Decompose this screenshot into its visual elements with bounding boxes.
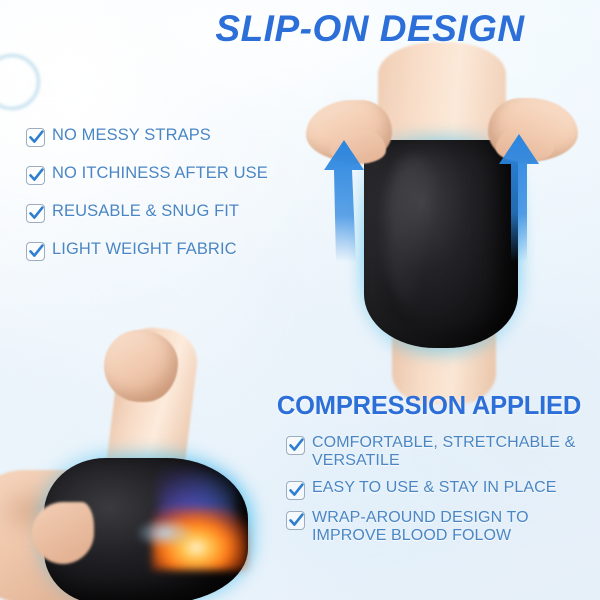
slip-on-arrow-left-icon: [322, 140, 368, 262]
list-item: WRAP-AROUND DESIGN TO IMPROVE BLOOD FOLO…: [286, 509, 596, 545]
list-item-label: REUSABLE & SNUG FIT: [52, 202, 239, 221]
list-item-label: NO ITCHINESS AFTER USE: [52, 164, 268, 183]
list-item-label: NO MESSY STRAPS: [52, 126, 211, 145]
list-item: EASY TO USE & STAY IN PLACE: [286, 479, 596, 500]
checkbox-checked-icon: [286, 436, 305, 455]
checkbox-checked-icon: [26, 204, 45, 223]
checkbox-checked-icon: [26, 166, 45, 185]
checkbox-checked-icon: [26, 242, 45, 261]
list-item-label: COMFORTABLE, STRETCHABLE & VERSATILE: [312, 434, 596, 470]
slip-on-arrow-right-icon: [496, 134, 542, 262]
list-item: NO MESSY STRAPS: [26, 126, 316, 147]
checkbox-checked-icon: [286, 481, 305, 500]
page-title: SLIP-ON DESIGN: [150, 8, 590, 50]
clenched-fist: [104, 330, 178, 402]
heat-glow-spark: [136, 518, 194, 548]
list-item: LIGHT WEIGHT FABRIC: [26, 240, 316, 261]
arm-sleeve-photo: [0, 322, 286, 600]
list-item-label: WRAP-AROUND DESIGN TO IMPROVE BLOOD FOLO…: [312, 509, 596, 545]
list-item: REUSABLE & SNUG FIT: [26, 202, 316, 223]
checkbox-checked-icon: [286, 511, 305, 530]
list-item: COMFORTABLE, STRETCHABLE & VERSATILE: [286, 434, 596, 470]
checkbox-checked-icon: [26, 128, 45, 147]
section-title-compression: COMPRESSION APPLIED: [258, 392, 600, 421]
inner-elbow-skin: [32, 502, 94, 564]
sleeve-highlight: [386, 156, 444, 306]
slip-on-feature-list: NO MESSY STRAPS NO ITCHINESS AFTER USE R…: [26, 126, 316, 278]
product-infographic-poster: SLIP-ON DESIGN NO MESSY STRAPS NO ITCHIN…: [0, 0, 600, 600]
compression-feature-list: COMFORTABLE, STRETCHABLE & VERSATILE EAS…: [286, 434, 596, 554]
list-item-label: EASY TO USE & STAY IN PLACE: [312, 479, 557, 497]
list-item: NO ITCHINESS AFTER USE: [26, 164, 316, 185]
list-item-label: LIGHT WEIGHT FABRIC: [52, 240, 237, 259]
knee-sleeve-photo: [300, 48, 600, 393]
